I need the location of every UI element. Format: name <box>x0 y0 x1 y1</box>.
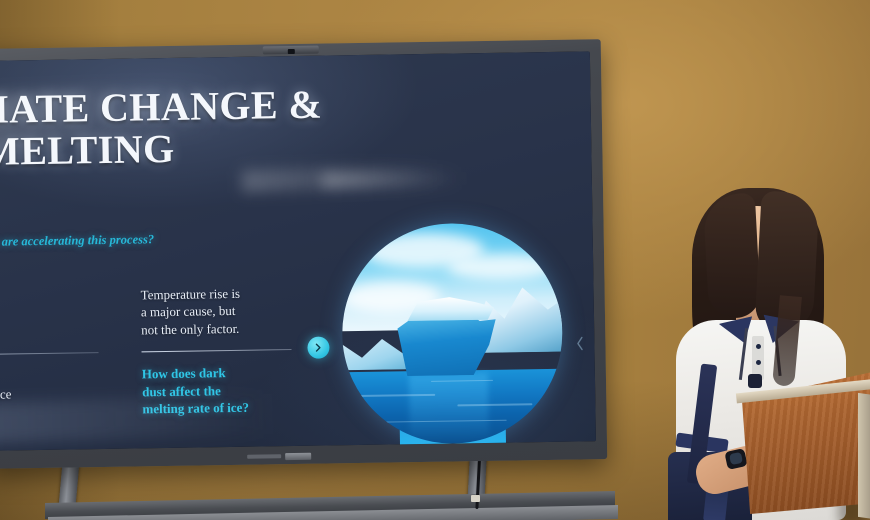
iceberg-photo <box>341 222 565 451</box>
lectern-side-panel <box>858 393 870 519</box>
middle-question: How does dark dust affect the melting ra… <box>142 363 293 417</box>
display-brand-mark <box>248 454 282 459</box>
left-divider <box>0 352 99 357</box>
slide-subtitle: How tiny particles are accelerating this… <box>0 230 325 252</box>
left-paragraph-1: Ice is melting at an increasing rate due… <box>0 287 98 342</box>
middle-divider <box>142 349 292 353</box>
display-screen[interactable]: CLIMATE CHANGE & ICE MELTING How tiny pa… <box>0 51 596 450</box>
cable-clip <box>471 495 480 502</box>
screen-glare <box>242 164 443 193</box>
presentation-slide[interactable]: CLIMATE CHANGE & ICE MELTING How tiny pa… <box>0 51 596 450</box>
photo-reflection <box>409 373 489 445</box>
middle-paragraph-1: Temperature rise is a major cause, but n… <box>140 284 291 338</box>
shirt-button <box>756 344 761 349</box>
interactive-flat-panel-display[interactable]: CLIMATE CHANGE & ICE MELTING How tiny pa… <box>0 39 607 469</box>
shirt-button <box>756 360 761 365</box>
screen-glare <box>322 171 462 187</box>
ir-receiver <box>285 453 311 460</box>
left-paragraph-2: Dark dust and pollution settle on ice su… <box>0 366 100 438</box>
slide-next-button[interactable] <box>307 336 329 358</box>
slide-title: CLIMATE CHANGE & ICE MELTING <box>0 82 420 173</box>
classroom-scene: CLIMATE CHANGE & ICE MELTING How tiny pa… <box>0 0 870 520</box>
wooden-lectern <box>742 372 870 520</box>
hair-front-left <box>703 193 761 320</box>
slide-column-middle: Temperature rise is a major cause, but n… <box>140 284 292 417</box>
chevron-right-icon <box>313 343 323 353</box>
photo-circle-mask <box>341 222 564 445</box>
camera-lens-icon <box>288 49 295 54</box>
slide-column-left: Ice is melting at an increasing rate due… <box>0 287 100 439</box>
chevron-left-icon <box>574 335 585 351</box>
camera-module <box>263 46 319 55</box>
slide-prev-button[interactable] <box>574 335 585 356</box>
